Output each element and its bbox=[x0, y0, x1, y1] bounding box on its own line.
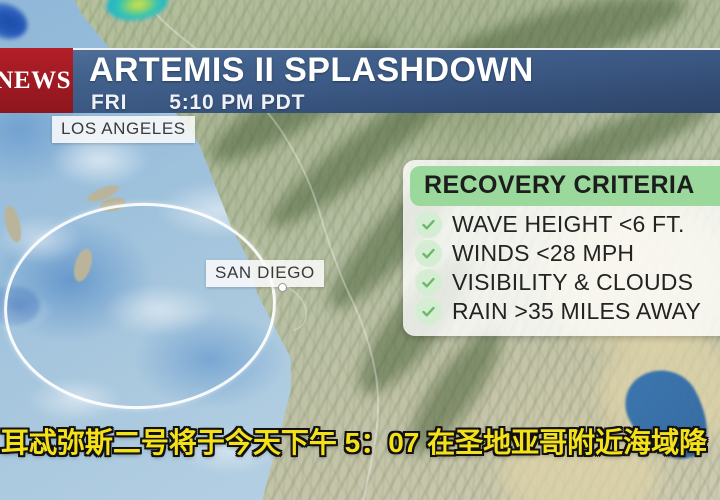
criteria-label: WINDS <28 MPH bbox=[452, 240, 634, 267]
network-logo-text: NEWS bbox=[0, 67, 71, 95]
check-icon bbox=[415, 211, 442, 238]
check-icon bbox=[415, 240, 442, 267]
headline-day: FRI bbox=[91, 91, 127, 113]
city-marker-san-diego bbox=[278, 283, 287, 292]
map-label-san-diego: SAN DIEGO bbox=[206, 260, 324, 287]
criteria-row-rain: RAIN >35 MILES AWAY bbox=[403, 297, 720, 326]
recovery-criteria-header: RECOVERY CRITERIA bbox=[410, 166, 720, 206]
criteria-label: WAVE HEIGHT <6 FT. bbox=[452, 211, 685, 238]
criteria-row-winds: WINDS <28 MPH bbox=[403, 239, 720, 268]
criteria-row-wave-height: WAVE HEIGHT <6 FT. bbox=[403, 210, 720, 239]
headline-title: ARTEMIS II SPLASHDOWN bbox=[89, 51, 534, 90]
network-logo: NEWS bbox=[0, 48, 73, 113]
headline-timestamp-row: FRI 5:10 PM PDT bbox=[91, 91, 305, 113]
headline-time: 5:10 PM PDT bbox=[169, 91, 305, 113]
recovery-criteria-panel: RECOVERY CRITERIA WAVE HEIGHT <6 FT. WIN… bbox=[403, 160, 720, 336]
headline-banner: ARTEMIS II SPLASHDOWN FRI 5:10 PM PDT bbox=[73, 48, 720, 113]
criteria-label: RAIN >35 MILES AWAY bbox=[452, 298, 701, 325]
criteria-label: VISIBILITY & CLOUDS bbox=[452, 269, 693, 296]
broadcast-weather-map-screen: LOS ANGELES SAN DIEGO NEWS ARTEMIS II SP… bbox=[0, 0, 720, 500]
map-label-los-angeles: LOS ANGELES bbox=[52, 116, 195, 143]
check-icon bbox=[415, 298, 442, 325]
check-icon bbox=[415, 269, 442, 296]
criteria-row-visibility: VISIBILITY & CLOUDS bbox=[403, 268, 720, 297]
